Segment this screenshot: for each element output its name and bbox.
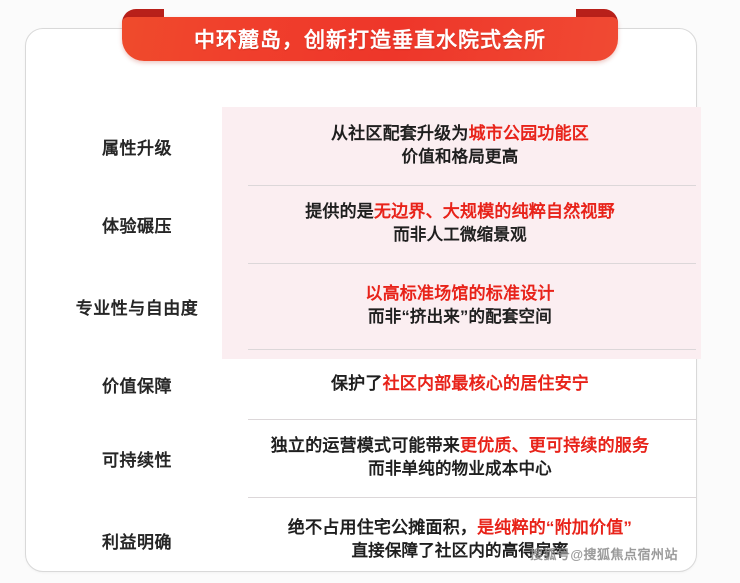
row-divider: [248, 185, 696, 186]
row-line-highlight: 以高标准场馆的标准设计: [365, 284, 554, 303]
row-divider: [248, 349, 696, 350]
row-label-attribute-upgrade: 属性升级: [52, 134, 222, 159]
table-row: 专业性与自由度 以高标准场馆的标准设计 而非“挤出来”的配套空间: [52, 263, 698, 349]
row-line-primary: 提供的是无边界、大规模的纯粹自然视野: [230, 200, 690, 225]
row-content-experience-crush: 提供的是无边界、大规模的纯粹自然视野 而非人工微缩景观: [222, 200, 698, 249]
ribbon-body: 中环麓岛，创新打造垂直水院式会所: [122, 17, 618, 61]
page-title: 中环麓岛，创新打造垂直水院式会所: [194, 24, 546, 54]
row-line-highlight: 是纯粹的“附加价值”: [477, 518, 632, 537]
row-line-primary: 从社区配套升级为城市公园功能区: [230, 122, 690, 147]
row-content-professionalism-freedom: 以高标准场馆的标准设计 而非“挤出来”的配套空间: [222, 282, 698, 331]
row-line-primary: 保护了社区内部最核心的居住安宁: [230, 372, 690, 397]
row-content-sustainability: 独立的运营模式可能带来更优质、更可持续的服务 而非单纯的物业成本中心: [222, 434, 698, 483]
row-line-highlight: 城市公园功能区: [469, 124, 589, 143]
table-row: 价值保障 保护了社区内部最核心的居住安宁: [52, 349, 698, 419]
table-row: 属性升级 从社区配套升级为城市公园功能区 价值和格局更高: [52, 107, 698, 185]
title-ribbon: 中环麓岛，创新打造垂直水院式会所: [122, 9, 618, 61]
row-divider: [248, 263, 696, 264]
row-line-highlight: 无边界、大规模的纯粹自然视野: [374, 202, 615, 221]
table-row: 可持续性 独立的运营模式可能带来更优质、更可持续的服务 而非单纯的物业成本中心: [52, 419, 698, 497]
row-line-secondary: 价值和格局更高: [230, 146, 690, 170]
table-row: 体验碾压 提供的是无边界、大规模的纯粹自然视野 而非人工微缩景观: [52, 185, 698, 263]
row-divider: [248, 419, 696, 420]
row-label-sustainability: 可持续性: [52, 446, 222, 471]
row-line-secondary: 而非“挤出来”的配套空间: [230, 306, 690, 330]
row-line-highlight: 社区内部最核心的居住安宁: [383, 374, 589, 393]
row-label-clear-benefit: 利益明确: [52, 528, 222, 553]
row-line-primary: 绝不占用住宅公摊面积，是纯粹的“附加价值”: [230, 516, 690, 541]
row-line-plain: 绝不占用住宅公摊面积，: [288, 518, 477, 537]
row-line-plain: 保护了: [331, 374, 383, 393]
row-line-secondary: 而非人工微缩景观: [230, 224, 690, 248]
content-card: 属性升级 从社区配套升级为城市公园功能区 价值和格局更高 体验碾压 提供的是无边…: [25, 28, 697, 572]
row-content-value-guarantee: 保护了社区内部最核心的居住安宁: [222, 372, 698, 397]
table-row: 利益明确 绝不占用住宅公摊面积，是纯粹的“附加价值” 直接保障了社区内的高得房率: [52, 497, 698, 583]
row-content-attribute-upgrade: 从社区配套升级为城市公园功能区 价值和格局更高: [222, 122, 698, 171]
row-label-value-guarantee: 价值保障: [52, 372, 222, 397]
row-line-primary: 独立的运营模式可能带来更优质、更可持续的服务: [230, 434, 690, 459]
comparison-rows: 属性升级 从社区配套升级为城市公园功能区 价值和格局更高 体验碾压 提供的是无边…: [52, 107, 698, 583]
row-line-plain: 独立的运营模式可能带来: [271, 436, 460, 455]
row-line-secondary: 而非单纯的物业成本中心: [230, 458, 690, 482]
row-line-primary: 以高标准场馆的标准设计: [230, 282, 690, 307]
row-line-plain: 从社区配套升级为: [331, 124, 469, 143]
row-divider: [248, 497, 696, 498]
row-label-experience-crush: 体验碾压: [52, 212, 222, 237]
row-line-highlight: 更优质、更可持续的服务: [460, 436, 649, 455]
watermark: 搜狐号@搜狐焦点宿州站: [530, 544, 678, 563]
row-label-professionalism-freedom: 专业性与自由度: [52, 294, 222, 319]
row-line-plain: 提供的是: [305, 202, 374, 221]
